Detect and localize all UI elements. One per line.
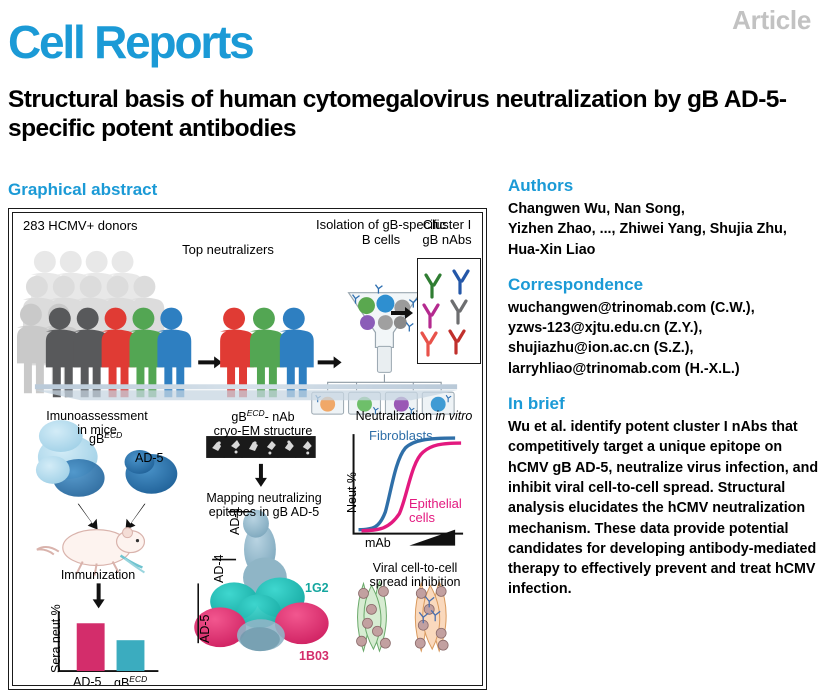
cryoem-particles-strip <box>206 436 316 458</box>
authors-line-1: Changwen Wu, Nan Song, <box>508 199 820 219</box>
page-root: Article Cell Reports Structural basis of… <box>0 0 827 699</box>
label-ad5: AD-5 <box>198 615 212 643</box>
right-column: Authors Changwen Wu, Nan Song, Yizhen Zh… <box>508 176 820 615</box>
cryoem-panel-title: gBECD- nAb cryo-EM structure <box>195 409 331 438</box>
mapping-line1: Mapping neutralizing <box>206 491 321 505</box>
gb-ecd-label: gBECD <box>89 431 122 446</box>
cluster-nab-box <box>417 258 481 364</box>
bar-cat-gbecd-sup: ECD <box>129 674 147 684</box>
donor-crowd-illustration <box>17 251 191 397</box>
authors-line-3: Hua-Xin Liao <box>508 240 820 260</box>
immunization-label: Immunization <box>33 568 163 582</box>
antibody-icons <box>418 259 480 363</box>
journal-logo: Cell Reports <box>8 19 253 65</box>
neut-title-base: Neutralization <box>356 409 436 423</box>
cryoem-title-line2: cryo-EM structure <box>214 424 313 438</box>
correspondence-heading: Correspondence <box>508 275 820 295</box>
bar-cat-gbecd-base: gB <box>114 676 129 686</box>
correspondence-email-1[interactable]: wuchangwen@trinomab.com (C.W.), <box>508 298 820 318</box>
cryoem-title-sup: ECD <box>247 408 265 418</box>
dose-triangle <box>409 530 455 546</box>
correspondence-email-2[interactable]: yzws-123@xjtu.edu.cn (Z.Y.), <box>508 318 820 338</box>
top-neutralizers-illustration <box>220 308 314 398</box>
flow-arrow-4 <box>391 305 415 319</box>
flow-arrow-2 <box>318 356 342 368</box>
curve-label-fibroblasts: Fibroblasts <box>369 429 433 444</box>
antibody-green-icon <box>426 275 440 297</box>
authors-block: Authors Changwen Wu, Nan Song, Yizhen Zh… <box>508 176 820 260</box>
correspondence-email-4[interactable]: larryhliao@trinomab.com (H.-X.L.) <box>508 359 820 379</box>
cell-spread-illustration <box>357 581 449 651</box>
bar-gbecd <box>117 640 145 671</box>
label-ad4: AD-4 <box>212 555 226 583</box>
neutralization-curve-chart <box>354 434 464 546</box>
graphical-abstract-heading: Graphical abstract <box>8 180 157 200</box>
antibody-gray-icon <box>452 301 466 323</box>
graphical-abstract-box: 283 HCMV+ donors Top neutralizers Isolat… <box>8 208 487 690</box>
label-ad1: AD-1 <box>228 507 242 535</box>
gb-ecd-label-sup: ECD <box>104 430 122 440</box>
sera-neut-ylabel: Sera neut % <box>49 604 63 673</box>
spread-panel-title: Viral cell-to-cell spread inhibition <box>347 561 483 589</box>
graphical-abstract-inner: 283 HCMV+ donors Top neutralizers Isolat… <box>12 212 483 686</box>
label-1g2: 1G2 <box>305 581 329 595</box>
isolation-label-line2: B cells <box>362 232 400 247</box>
epithelial-line2: cells <box>409 510 435 525</box>
in-brief-text: Wu et al. identify potent cluster I nAbs… <box>508 417 820 600</box>
cryoem-arrow-down <box>255 464 267 487</box>
mapping-epitopes-label: Mapping neutralizing epitopes in gB AD-5 <box>189 491 339 519</box>
neut-ylabel: Neut % <box>345 472 359 513</box>
neut-xlabel: mAb <box>365 536 391 550</box>
in-brief-heading: In brief <box>508 394 820 414</box>
antibody-red-icon <box>422 333 436 355</box>
bar-cat-ad5: AD-5 <box>73 675 101 686</box>
spread-title-line2: spread inhibition <box>369 575 460 589</box>
graphical-abstract-artwork <box>13 213 482 685</box>
ad5-domain-label: AD-5 <box>135 451 163 465</box>
sera-neut-bar-chart <box>59 611 159 671</box>
donors-label: 283 HCMV+ donors <box>23 219 138 234</box>
immuno-title-line1: Imunoassessment <box>46 409 147 423</box>
label-1b03: 1B03 <box>299 649 329 663</box>
bar-ad5 <box>77 623 105 671</box>
cluster-label-line2: gB nAbs <box>422 232 471 247</box>
article-type-label: Article <box>732 5 811 36</box>
authors-line-2: Yizhen Zhao, ..., Zhiwei Yang, Shujia Zh… <box>508 219 820 239</box>
neut-title-italic: in vitro <box>436 409 473 423</box>
antibody-blue-icon <box>454 271 468 293</box>
cryoem-title-nab: - nAb <box>265 410 295 424</box>
cluster-label: Cluster I gB nAbs <box>411 218 483 247</box>
gb-ecd-label-base: gB <box>89 432 104 446</box>
curve-label-epithelial: Epithelial cells <box>409 497 462 524</box>
correspondence-block: Correspondence wuchangwen@trinomab.com (… <box>508 275 820 379</box>
cluster-label-line1: Cluster I <box>423 217 471 232</box>
neutralization-panel-title: Neutralization in vitro <box>347 409 481 423</box>
antibody-magenta-icon <box>424 305 438 327</box>
mapping-line2: epitopes in gB AD-5 <box>209 505 320 519</box>
correspondence-email-3[interactable]: shujiazhu@ion.ac.cn (S.Z.), <box>508 338 820 358</box>
authors-heading: Authors <box>508 176 820 196</box>
in-brief-block: In brief Wu et al. identify potent clust… <box>508 394 820 600</box>
section-divider <box>35 384 457 400</box>
antibody-darkred-icon <box>450 331 464 353</box>
cryoem-title-gb: gB <box>231 410 246 424</box>
spread-title-line1: Viral cell-to-cell <box>373 561 458 575</box>
bar-cat-gbecd: gBECD <box>114 675 147 686</box>
top-neutralizers-label: Top neutralizers <box>163 243 293 258</box>
flow-arrow-1 <box>198 356 222 368</box>
page-title: Structural basis of human cytomegaloviru… <box>8 86 823 143</box>
